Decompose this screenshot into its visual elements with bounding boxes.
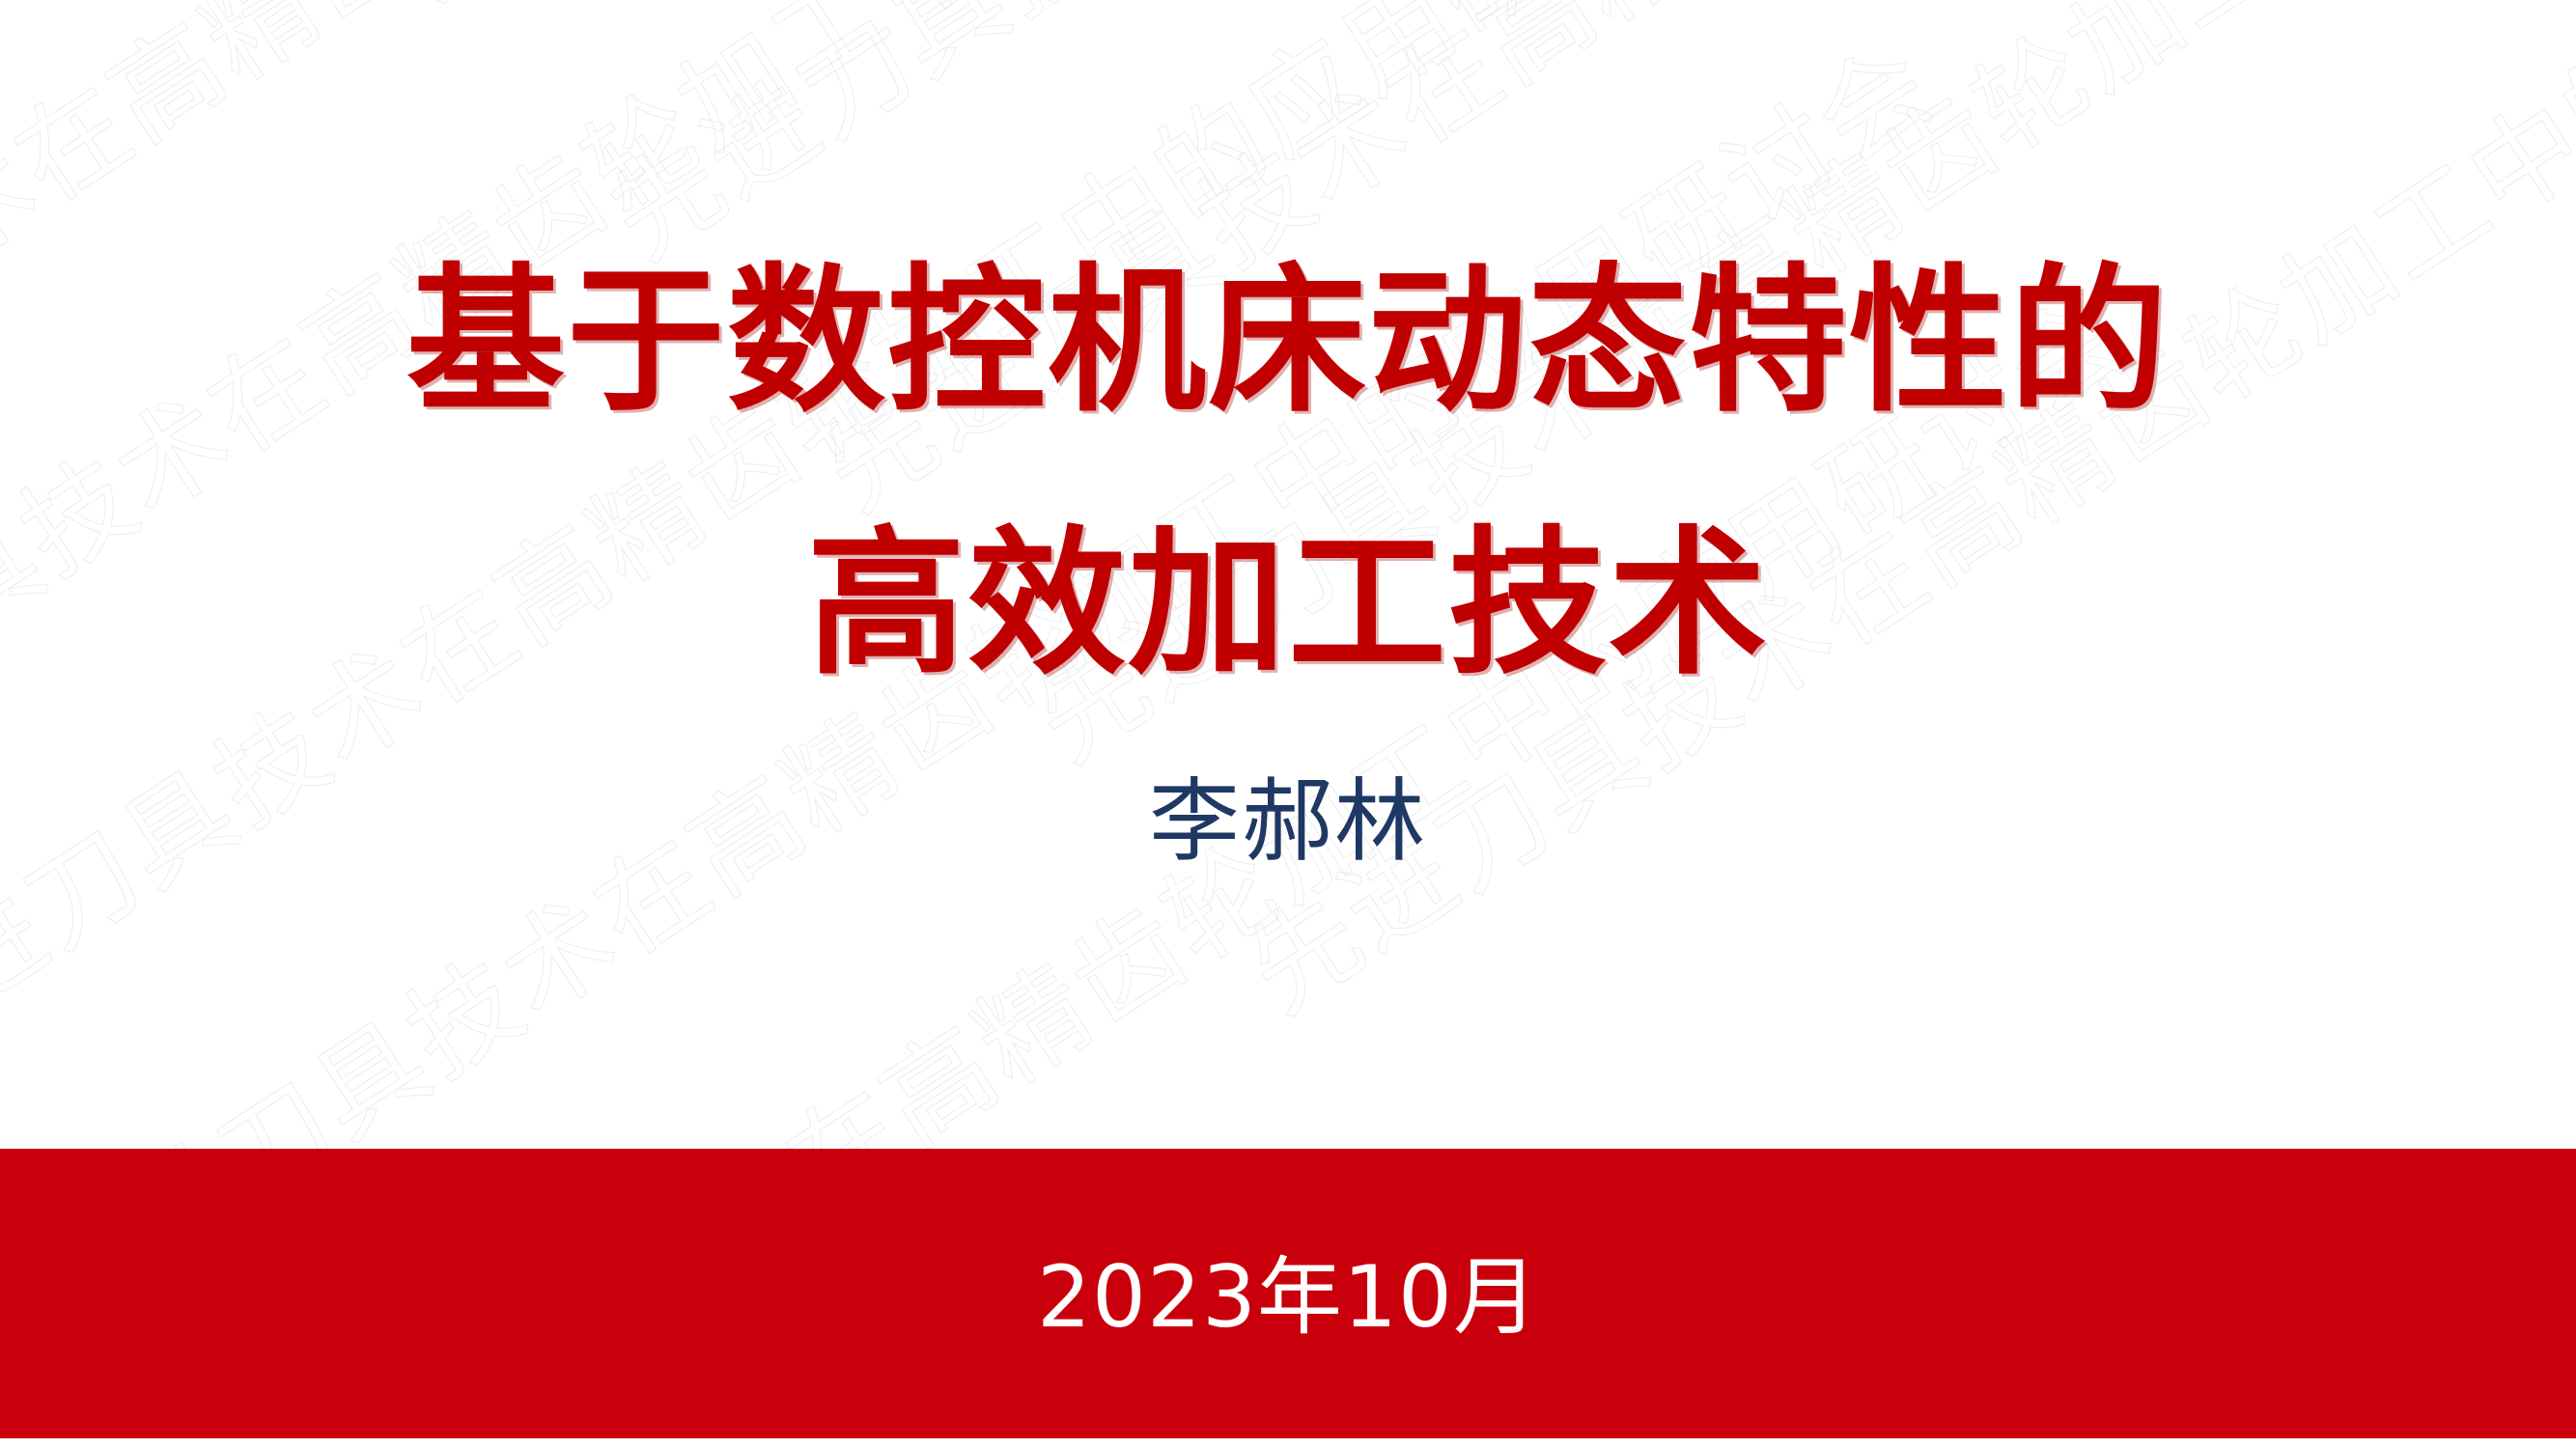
author-name: 李郝林: [0, 772, 2576, 872]
watermark-text: 先进刀具技术在高精齿轮加工中的应用研讨会: [363, 0, 2327, 28]
bottom-white-strip: [0, 1438, 2576, 1448]
watermark-text: 先进刀具技术在高精齿轮加工中的应用研讨会: [575, 0, 2539, 289]
presentation-title-slide: 先进刀具技术在高精齿轮加工中的应用研讨会 先进刀具技术在高精齿轮加工中的应用研讨…: [0, 0, 2576, 1448]
footer-bar: 2023年10月: [0, 1149, 2576, 1438]
presentation-date: 2023年10月: [1037, 1229, 1539, 1351]
slide-title: 基于数控机床动态特性的 高效加工技术: [0, 263, 2576, 683]
title-line-1: 基于数控机床动态特性的: [0, 263, 2576, 421]
author-block: 李郝林: [0, 772, 2576, 872]
title-line-2: 高效加工技术: [0, 525, 2576, 683]
watermark-text: 先进刀具技术在高精齿轮加工中的应用研讨会: [0, 0, 994, 96]
